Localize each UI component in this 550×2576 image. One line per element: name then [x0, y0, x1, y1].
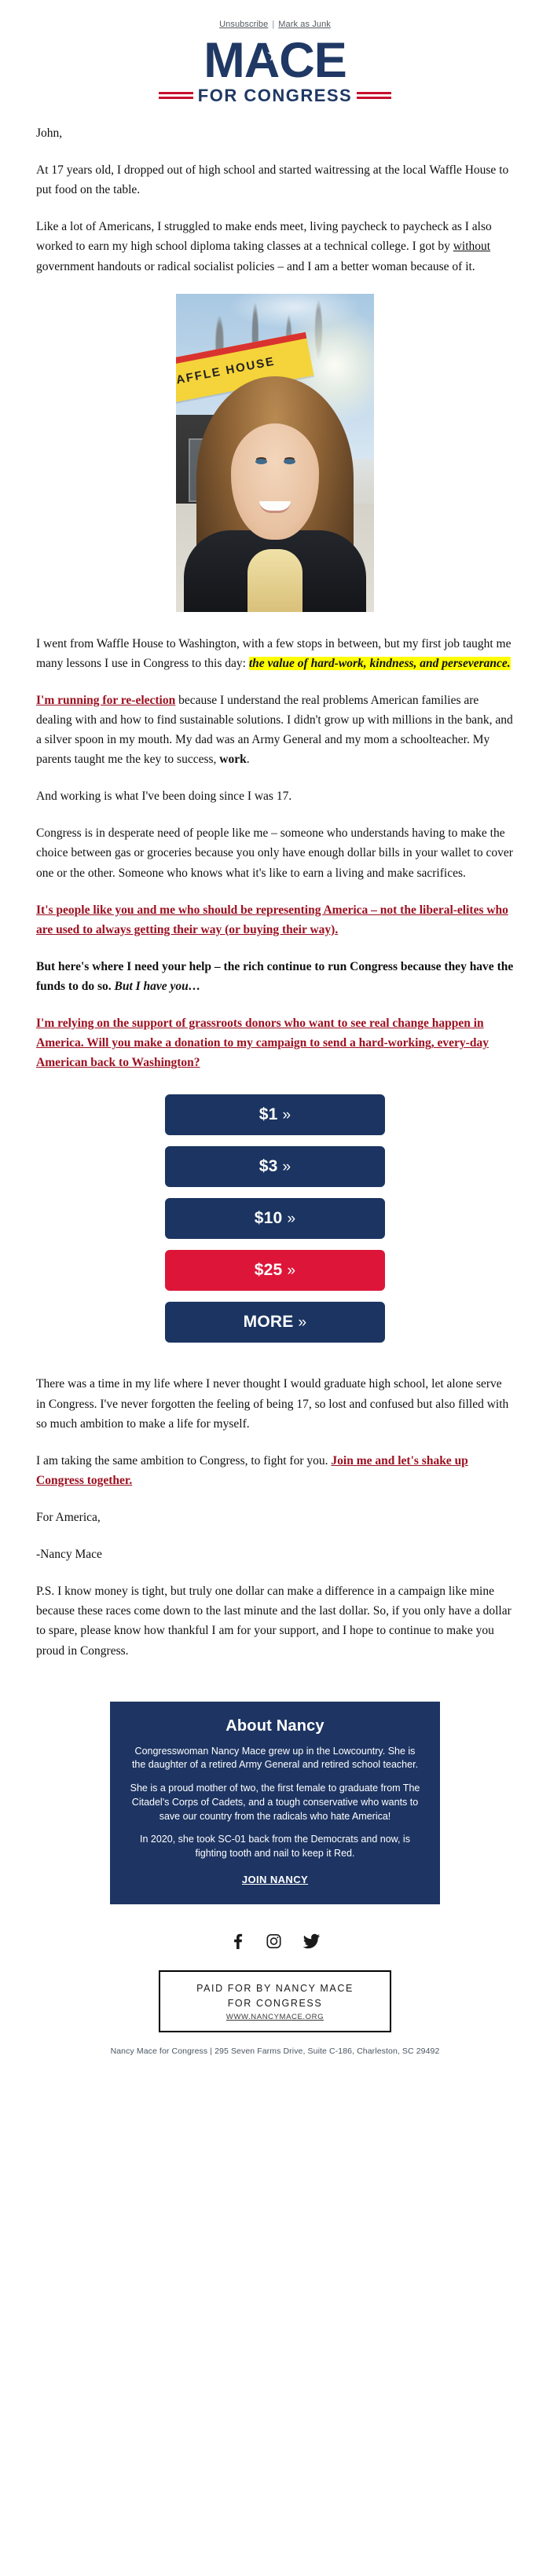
- social-links: [0, 1904, 550, 1967]
- facebook-icon[interactable]: [229, 1933, 245, 1950]
- signature: -Nancy Mace: [36, 1545, 514, 1564]
- about-section: About Nancy Congresswoman Nancy Mace gre…: [0, 1678, 550, 1904]
- logo-tagline: FOR CONGRESS: [198, 86, 352, 106]
- stripes-left-icon: [159, 90, 193, 101]
- about-paragraph-2: She is a proud mother of two, the first …: [129, 1782, 421, 1823]
- donation-ask-link[interactable]: I'm relying on the support of grassroots…: [36, 1017, 489, 1069]
- chevron-right-icon: »: [287, 1262, 295, 1279]
- twitter-icon[interactable]: [302, 1933, 321, 1950]
- donate-button-10-label: $10: [255, 1209, 283, 1227]
- donate-button-10[interactable]: $10 »: [165, 1198, 385, 1239]
- logo-wordmark: MACE ★: [203, 38, 346, 84]
- paragraph-4: I'm running for re-election because I un…: [36, 691, 514, 769]
- donate-button-3[interactable]: $3 »: [165, 1146, 385, 1187]
- paid-for-box: PAID FOR BY NANCY MACE FOR CONGRESS WWW.…: [159, 1970, 391, 2033]
- donate-button-25[interactable]: $25 »: [165, 1250, 385, 1291]
- facebook-glyph: [229, 1933, 245, 1950]
- closing: For America,: [36, 1508, 514, 1527]
- donate-button-1-label: $1: [259, 1105, 278, 1123]
- photo-person-eye-right: [284, 459, 295, 464]
- paragraph-5: And working is what I've been doing sinc…: [36, 786, 514, 806]
- donate-button-more[interactable]: MORE »: [165, 1302, 385, 1343]
- chevron-right-icon: »: [283, 1159, 291, 1175]
- twitter-glyph: [302, 1933, 321, 1950]
- chevron-right-icon: »: [299, 1314, 307, 1331]
- photo-person-scarf: [247, 549, 302, 612]
- preheader-links: Unsubscribe|Mark as Junk: [0, 0, 550, 29]
- preheader-separator: |: [268, 20, 278, 29]
- paragraph-2: Like a lot of Americans, I struggled to …: [36, 217, 514, 276]
- disclaimer-line-1: PAID FOR BY NANCY MACE: [184, 1981, 366, 1996]
- paragraph-7: It's people like you and me who should b…: [36, 900, 514, 940]
- mark-as-junk-link[interactable]: Mark as Junk: [278, 20, 331, 29]
- about-heading: About Nancy: [129, 1717, 421, 1735]
- paragraph-2-part-b: government handouts or radical socialist…: [36, 260, 475, 273]
- waffle-house-photo-wrapper: WAFFLE HOUSE: [36, 294, 514, 612]
- paragraph-11: I am taking the same ambition to Congres…: [36, 1451, 514, 1490]
- paragraph-8-bold: But here's where I need your help – the …: [36, 960, 513, 993]
- letter-body: John, At 17 years old, I dropped out of …: [0, 111, 550, 1661]
- people-like-you-and-me-link[interactable]: It's people like you and me who should b…: [36, 903, 508, 936]
- campaign-logo: MACE ★ FOR CONGRESS: [0, 29, 550, 111]
- paragraph-2-part-a: Like a lot of Americans, I struggled to …: [36, 220, 492, 253]
- disclaimer-line-2: FOR CONGRESS: [184, 1996, 366, 2011]
- donate-button-25-label: $25: [255, 1261, 283, 1279]
- donation-buttons: $1 » $3 » $10 » $25 » MORE »: [36, 1090, 514, 1357]
- donate-button-1[interactable]: $1 »: [165, 1094, 385, 1135]
- greeting: John,: [36, 123, 514, 143]
- running-for-reelection-link[interactable]: I'm running for re-election: [36, 694, 175, 707]
- about-nancy-box: About Nancy Congresswoman Nancy Mace gre…: [110, 1702, 440, 1904]
- donate-button-3-label: $3: [259, 1157, 278, 1175]
- stripes-right-icon: [357, 90, 391, 101]
- instagram-icon[interactable]: [266, 1933, 282, 1950]
- chevron-right-icon: »: [287, 1211, 295, 1227]
- paragraph-3-highlight: the value of hard-work, kindness, and pe…: [249, 657, 511, 670]
- paragraph-10: There was a time in my life where I neve…: [36, 1374, 514, 1433]
- unsubscribe-link[interactable]: Unsubscribe: [219, 20, 268, 29]
- photo-person-eye-left: [255, 459, 267, 464]
- paragraph-6: Congress is in desperate need of people …: [36, 823, 514, 882]
- paragraph-11-part-a: I am taking the same ambition to Congres…: [36, 1454, 331, 1468]
- email-container: Unsubscribe|Mark as Junk MACE ★ FOR CONG…: [0, 0, 550, 2076]
- instagram-glyph: [266, 1933, 282, 1950]
- disclaimer-section: PAID FOR BY NANCY MACE FOR CONGRESS WWW.…: [0, 1967, 550, 2033]
- join-nancy-button[interactable]: JOIN NANCY: [242, 1874, 308, 1885]
- paragraph-3: I went from Waffle House to Washington, …: [36, 634, 514, 673]
- paragraph-8-italic: But I have you…: [115, 980, 201, 993]
- paragraph-2-emphasis-without: without: [453, 240, 490, 253]
- about-paragraph-3: In 2020, she took SC-01 back from the De…: [129, 1833, 421, 1861]
- star-icon: ★: [267, 46, 281, 63]
- footer-address: Nancy Mace for Congress | 295 Seven Farm…: [0, 2032, 550, 2076]
- paragraph-4-emphasis-work: work: [219, 753, 246, 766]
- donate-button-more-label: MORE: [244, 1313, 294, 1331]
- waffle-house-photo: WAFFLE HOUSE: [176, 294, 374, 612]
- paragraph-4-part-b: .: [247, 753, 250, 766]
- logo-tagline-row: FOR CONGRESS: [0, 86, 550, 106]
- chevron-right-icon: »: [283, 1107, 291, 1123]
- postscript: P.S. I know money is tight, but truly on…: [36, 1581, 514, 1660]
- paragraph-9: I'm relying on the support of grassroots…: [36, 1013, 514, 1072]
- about-paragraph-1: Congresswoman Nancy Mace grew up in the …: [129, 1745, 421, 1773]
- paragraph-8: But here's where I need your help – the …: [36, 957, 514, 996]
- photo-person-face: [231, 423, 319, 540]
- disclaimer-website: WWW.NANCYMACE.ORG: [184, 2013, 366, 2021]
- paragraph-1: At 17 years old, I dropped out of high s…: [36, 160, 514, 200]
